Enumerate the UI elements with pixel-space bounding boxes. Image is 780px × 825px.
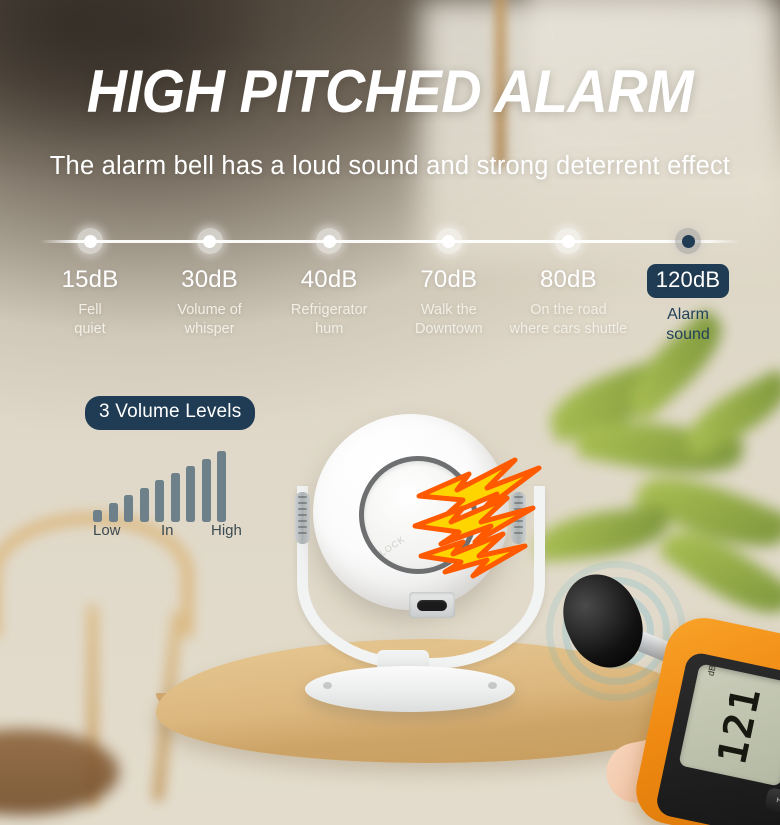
db-tick-15db: 15dBFellquiet (30, 228, 150, 338)
db-tick-30db: 30dBVolume ofwhisper (150, 228, 270, 338)
db-tick-dot (197, 228, 223, 254)
decibel-scale: 15dBFellquiet30dBVolume ofwhisper40dBRef… (0, 228, 780, 358)
db-tick-dot (555, 228, 581, 254)
lcd-unit: dBA (706, 658, 719, 677)
volume-bar-4 (140, 488, 149, 522)
volume-bar-9 (217, 451, 226, 522)
db-tick-dot (675, 228, 701, 254)
db-tick-value: 70dB (389, 266, 509, 294)
db-tick-value: 120dB (647, 264, 730, 298)
volume-bar-7 (186, 466, 195, 522)
volume-bar-2 (109, 503, 118, 522)
volume-bar-3 (124, 495, 133, 522)
volume-bar-1 (93, 510, 102, 522)
volume-levels-badge: 3 Volume Levels (85, 396, 255, 430)
db-tick-dot (436, 228, 462, 254)
volume-axis-labels: Low In High (93, 522, 275, 542)
db-tick-core (682, 235, 695, 248)
db-tick-dot (77, 228, 103, 254)
db-tick-40db: 40dBRefrigeratorhum (269, 228, 389, 338)
sound-level-meter: dBA 121 HOLD (520, 545, 780, 825)
db-tick-value: 80dB (508, 266, 628, 294)
db-tick-dot (316, 228, 342, 254)
db-tick-70db: 70dBWalk theDowntown (389, 228, 509, 338)
device-hinge-left (295, 492, 310, 544)
volume-bar-8 (202, 459, 211, 522)
db-tick-core (562, 235, 575, 248)
db-tick-core (203, 235, 216, 248)
device-base (305, 666, 515, 712)
usb-c-port (409, 592, 455, 618)
db-tick-80db: 80dBOn the roadwhere cars shuttle (508, 228, 628, 338)
volume-bar-6 (171, 473, 180, 522)
db-tick-value: 15dB (30, 266, 150, 294)
db-tick-description: Refrigeratorhum (269, 301, 389, 338)
lightning-bolt-3 (421, 534, 525, 576)
db-tick-description: On the roadwhere cars shuttle (508, 301, 628, 338)
product-feature-image: HIGH PITCHED ALARM The alarm bell has a … (0, 0, 780, 825)
db-tick-value: 40dB (269, 266, 389, 294)
page-title: HIGH PITCHED ALARM (27, 62, 752, 122)
page-subtitle: The alarm bell has a loud sound and stro… (0, 152, 780, 181)
alarm-device: LOCK (283, 414, 538, 704)
db-tick-core (323, 235, 336, 248)
db-tick-description: Volume ofwhisper (150, 301, 270, 338)
db-tick-description: Fellquiet (30, 301, 150, 338)
volume-bar-chart (93, 450, 275, 522)
volume-levels-panel: 3 Volume Levels Low In High (85, 396, 275, 542)
lcd-reading: 121 (709, 682, 770, 768)
device-logo: LOCK (378, 534, 407, 558)
db-tick-value: 30dB (150, 266, 270, 294)
volume-label-high: High (211, 522, 242, 539)
volume-label-low: Low (93, 522, 121, 539)
volume-label-in: In (161, 522, 174, 539)
db-tick-core (442, 235, 455, 248)
db-tick-description: Alarmsound (628, 305, 748, 346)
db-tick-description: Walk theDowntown (389, 301, 509, 338)
db-tick-core (84, 235, 97, 248)
db-tick-120db: 120dBAlarmsound (628, 228, 748, 346)
volume-bar-5 (155, 480, 164, 522)
